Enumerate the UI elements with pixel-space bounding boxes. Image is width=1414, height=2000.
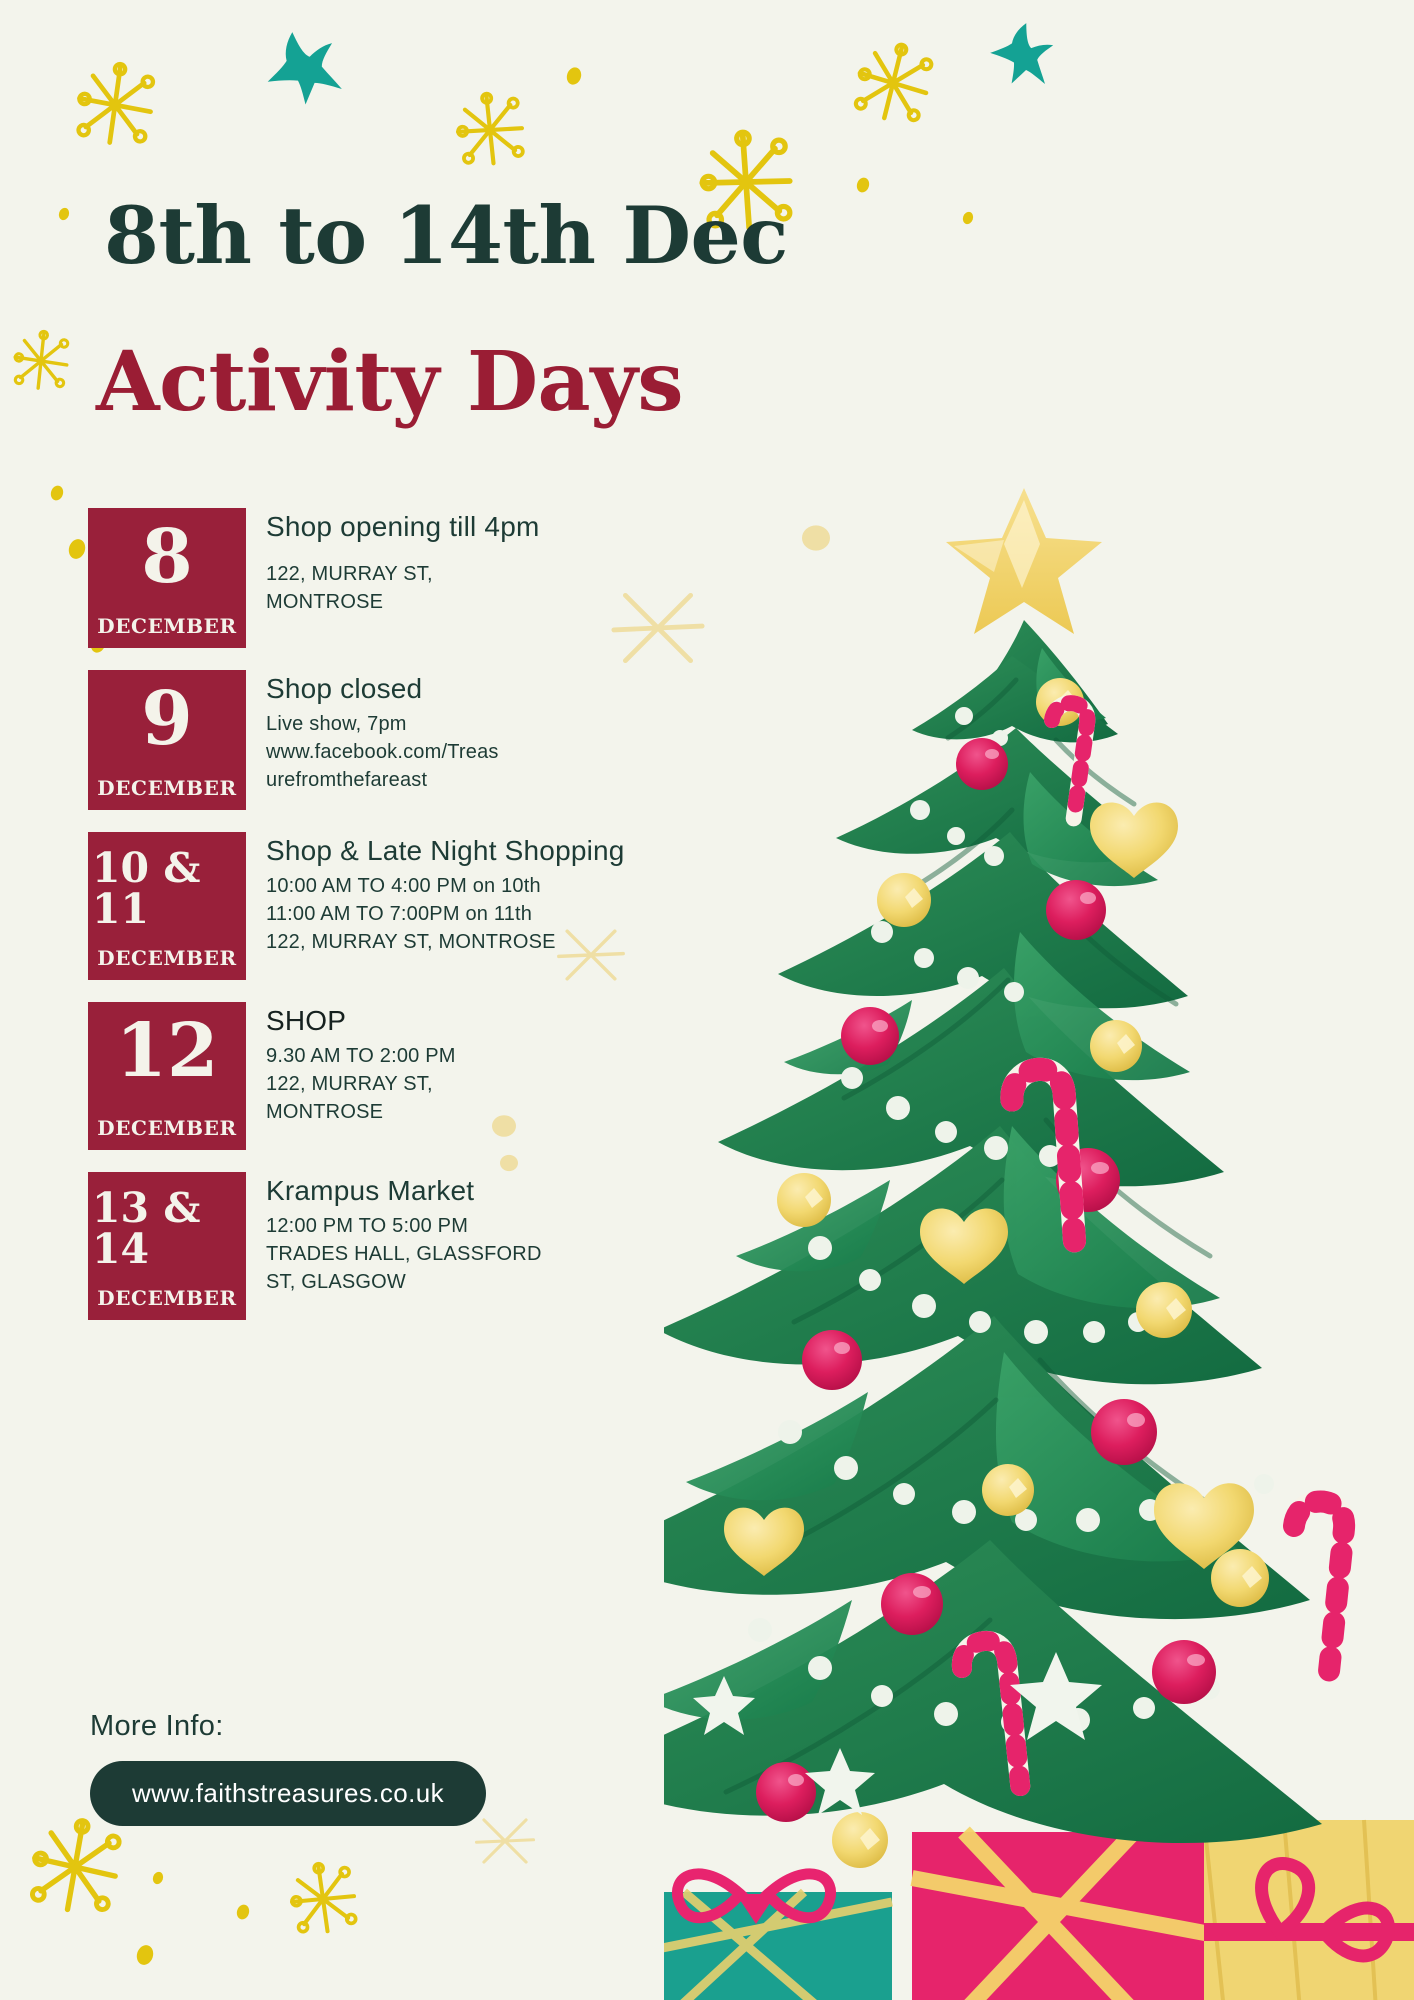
schedule-item: 10 & 11DECEMBERShop & Late Night Shoppin…: [88, 832, 848, 980]
schedule-item-line: MONTROSE: [266, 1098, 848, 1126]
schedule-item-title: Krampus Market: [266, 1174, 848, 1208]
date-day-number: 13 & 14: [92, 1178, 242, 1270]
schedule-item-line: 9.30 AM TO 2:00 PM: [266, 1042, 848, 1070]
schedule-item-details: Shop closedLive show, 7pmwww.facebook.co…: [246, 670, 848, 795]
date-month-label: DECEMBER: [97, 946, 236, 970]
date-day-number: 10 & 11: [92, 838, 242, 930]
schedule-item-line: 122, MURRAY ST,: [266, 560, 848, 588]
schedule-item: 12DECEMBERSHOP9.30 AM TO 2:00 PM122, MUR…: [88, 1002, 848, 1150]
schedule-item-details: SHOP9.30 AM TO 2:00 PM122, MURRAY ST,MON…: [246, 1002, 848, 1127]
schedule-item-line: 12:00 PM TO 5:00 PM: [266, 1212, 848, 1240]
schedule-item-details: Krampus Market12:00 PM TO 5:00 PMTRADES …: [246, 1172, 848, 1297]
page-subtitle: Activity Days: [96, 341, 844, 425]
schedule-item-line: www.facebook.com/Treas: [266, 738, 848, 766]
schedule-item-line: Live show, 7pm: [266, 710, 848, 738]
date-day-number: 8: [141, 514, 193, 594]
schedule-item: 8DECEMBERShop opening till 4pm122, MURRA…: [88, 508, 848, 648]
schedule-item: 13 & 14DECEMBERKrampus Market12:00 PM TO…: [88, 1172, 848, 1320]
schedule-item-line: 122, MURRAY ST,: [266, 1070, 848, 1098]
schedule-item-details: Shop opening till 4pm122, MURRAY ST,MONT…: [246, 508, 848, 616]
schedule-item-line: MONTROSE: [266, 588, 848, 616]
schedule-item-title: Shop opening till 4pm: [266, 510, 848, 544]
title-block: 8th to 14th Dec Activity Days: [104, 196, 844, 424]
schedule-item-line: urefromthefareast: [266, 766, 848, 794]
date-month-label: DECEMBER: [97, 1286, 236, 1310]
date-badge: 9DECEMBER: [88, 670, 246, 810]
schedule-item-lines: 10:00 AM TO 4:00 PM on 10th11:00 AM TO 7…: [266, 872, 848, 957]
schedule-item-lines: 9.30 AM TO 2:00 PM122, MURRAY ST,MONTROS…: [266, 1042, 848, 1127]
schedule-item-lines: 12:00 PM TO 5:00 PMTRADES HALL, GLASSFOR…: [266, 1212, 848, 1297]
schedule-item-title: Shop & Late Night Shopping: [266, 834, 848, 868]
schedule-item-lines: 122, MURRAY ST,MONTROSE: [266, 560, 848, 617]
schedule-item-lines: Live show, 7pmwww.facebook.com/Treasuref…: [266, 710, 848, 795]
schedule-item-title: SHOP: [266, 1004, 848, 1038]
schedule-item-line: TRADES HALL, GLASSFORD: [266, 1240, 848, 1268]
date-badge: 10 & 11DECEMBER: [88, 832, 246, 980]
date-month-label: DECEMBER: [97, 776, 236, 800]
schedule-item-line: 10:00 AM TO 4:00 PM on 10th: [266, 872, 848, 900]
schedule-list: 8DECEMBERShop opening till 4pm122, MURRA…: [88, 508, 848, 1342]
footer: More Info: www.faithstreasures.co.uk: [90, 1710, 486, 1826]
date-month-label: DECEMBER: [97, 1116, 236, 1140]
schedule-item: 9DECEMBERShop closedLive show, 7pmwww.fa…: [88, 670, 848, 810]
schedule-item-line: ST, GLASGOW: [266, 1268, 848, 1296]
schedule-item-details: Shop & Late Night Shopping10:00 AM TO 4:…: [246, 832, 848, 957]
teal-star-icon: [988, 20, 1054, 86]
date-month-label: DECEMBER: [97, 614, 236, 638]
gold-snowflake-icon: [852, 42, 934, 124]
page-title: 8th to 14th Dec: [104, 196, 844, 277]
date-day-number: 12: [116, 1008, 219, 1088]
gold-dot-icon: [962, 212, 974, 224]
date-badge: 8DECEMBER: [88, 508, 246, 648]
more-info-label: More Info:: [90, 1710, 486, 1743]
poster-canvas: 8th to 14th Dec Activity Days 8DECEMBERS…: [0, 0, 1414, 2000]
website-link[interactable]: www.faithstreasures.co.uk: [90, 1761, 486, 1826]
schedule-item-line: 122, MURRAY ST, MONTROSE: [266, 928, 848, 956]
poster-content: 8th to 14th Dec Activity Days 8DECEMBERS…: [0, 0, 860, 2000]
schedule-item-line: 11:00 AM TO 7:00PM on 11th: [266, 900, 848, 928]
date-badge: 13 & 14DECEMBER: [88, 1172, 246, 1320]
date-badge: 12DECEMBER: [88, 1002, 246, 1150]
schedule-item-title: Shop closed: [266, 672, 848, 706]
date-day-number: 9: [141, 676, 193, 756]
